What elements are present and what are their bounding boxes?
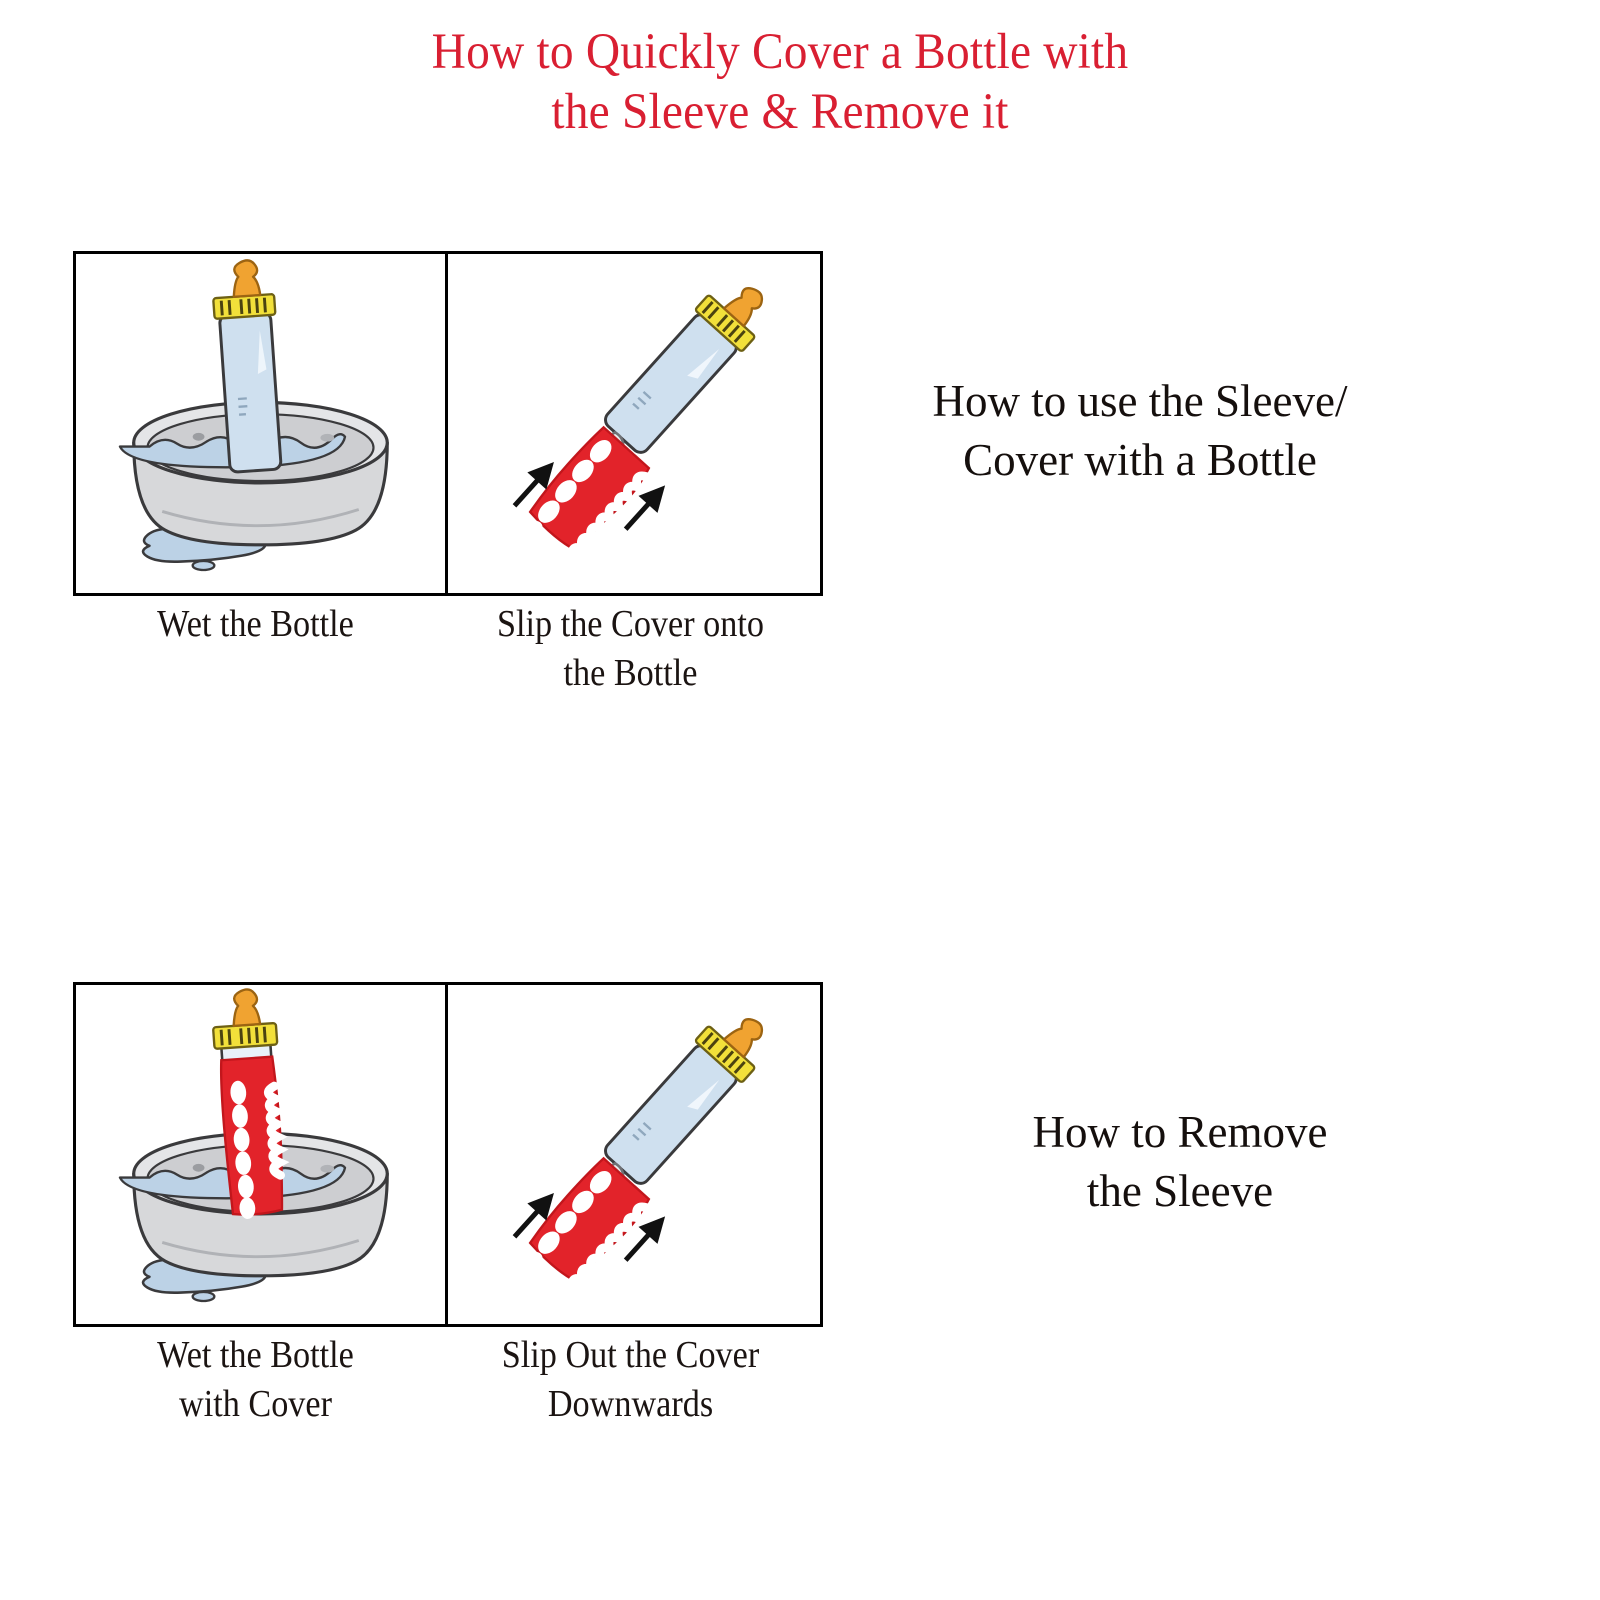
panel-wet-bottle-with-cover	[76, 985, 448, 1324]
section-heading-line: How to use the Sleeve/	[860, 372, 1420, 431]
bottle-nipple-icon	[231, 989, 260, 1026]
illustration-sleeved-bottle-in-water-bowl	[76, 985, 445, 1324]
page-title: How to Quickly Cover a Bottle with the S…	[55, 22, 1506, 142]
caption-line: the Bottle	[462, 649, 800, 698]
illustration-tilted-bottle-with-sleeve-arrows-up-2	[448, 985, 820, 1324]
illustration-tilted-bottle-with-sleeve-arrows-up-1	[448, 254, 820, 593]
bottle-nipple-icon	[231, 260, 260, 297]
bowl-speck-right-icon	[320, 434, 334, 442]
caption-row-remove: Wet the Bottle with Cover Slip Out the C…	[68, 1331, 828, 1428]
page-title-line-1: How to Quickly Cover a Bottle with	[55, 22, 1506, 82]
page-title-line-2: the Sleeve & Remove it	[55, 82, 1506, 142]
caption-line: Slip Out the Cover	[462, 1331, 800, 1380]
panel-wet-bottle	[76, 254, 448, 593]
water-droplet-icon	[193, 1292, 215, 1301]
bottle-body-icon	[219, 312, 281, 472]
caption-line: Downwards	[462, 1380, 800, 1429]
panel-group-remove-sleeve	[73, 982, 823, 1327]
section-heading-line: Cover with a Bottle	[860, 431, 1420, 490]
bowl-speck-left-icon	[193, 1164, 205, 1172]
bowl-speck-left-icon	[193, 433, 205, 441]
caption-line: Slip the Cover onto	[462, 600, 800, 649]
caption-slip-cover-off: Slip Out the Cover Downwards	[462, 1331, 800, 1428]
caption-line: Wet the Bottle	[87, 1331, 425, 1380]
illustration-bottle-in-water-bowl	[76, 254, 445, 593]
bowl-speck-right-icon	[320, 1165, 334, 1173]
water-droplet-icon	[193, 561, 215, 570]
caption-wet-bottle-with-cover: Wet the Bottle with Cover	[87, 1331, 425, 1428]
panel-slip-cover-off	[448, 985, 820, 1324]
section-heading-line: How to Remove	[900, 1103, 1460, 1162]
caption-slip-cover-on: Slip the Cover onto the Bottle	[462, 600, 800, 697]
panel-slip-cover-on	[448, 254, 820, 593]
section-heading-remove-sleeve: How to Remove the Sleeve	[900, 1103, 1460, 1222]
panel-group-apply-sleeve	[73, 251, 823, 596]
caption-wet-bottle: Wet the Bottle	[87, 600, 425, 697]
caption-row-apply: Wet the Bottle Slip the Cover onto the B…	[68, 600, 828, 697]
caption-line: Wet the Bottle	[87, 600, 425, 649]
section-heading-use-sleeve: How to use the Sleeve/ Cover with a Bott…	[860, 372, 1420, 491]
caption-line: with Cover	[87, 1380, 425, 1429]
section-heading-line: the Sleeve	[900, 1162, 1460, 1221]
